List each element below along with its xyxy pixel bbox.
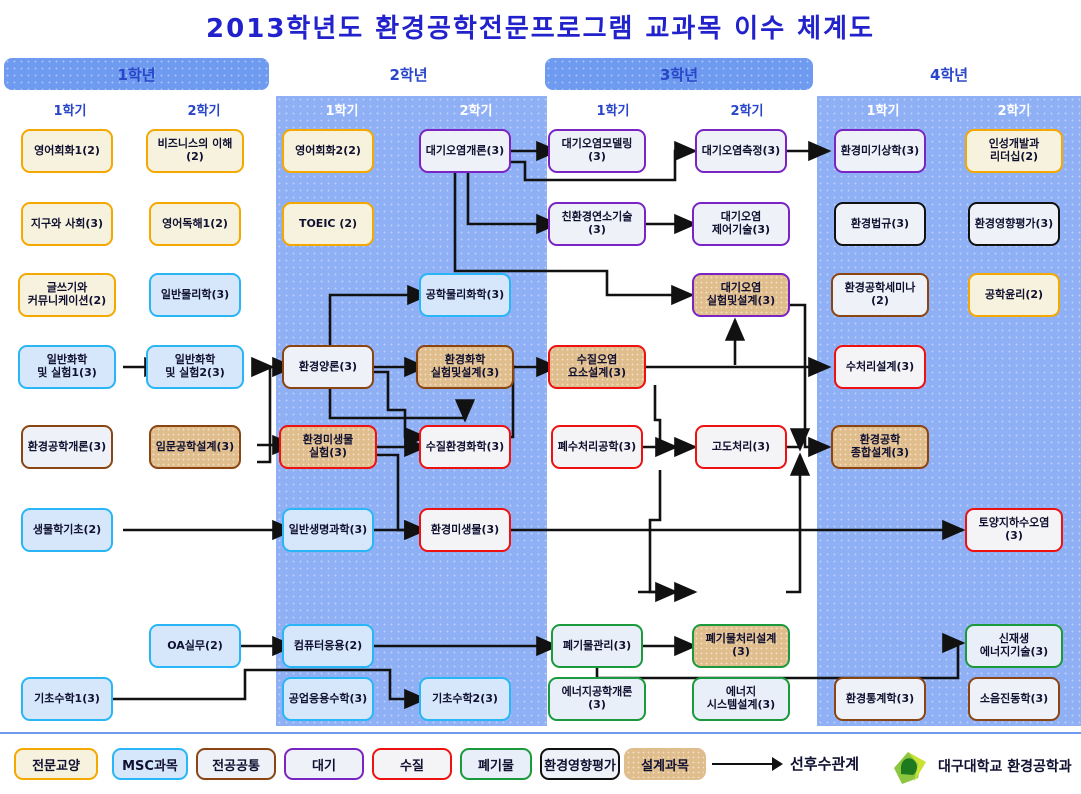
- course-box[interactable]: 영어독해1(2): [149, 202, 241, 246]
- course-label: 대기오염 제어기술(3): [712, 211, 770, 236]
- semester-header-4-1: 1학기: [817, 96, 949, 122]
- year-label: 2학년: [389, 64, 427, 85]
- legend-item[interactable]: 수질: [372, 748, 452, 780]
- course-label: 영어독해1(2): [162, 218, 228, 231]
- legend-item[interactable]: 전문교양: [14, 748, 98, 780]
- course-label: 영어회화2(2): [295, 145, 361, 158]
- course-box[interactable]: 폐기물처리설계 (3): [692, 624, 790, 668]
- legend-item-label: 수질: [400, 755, 424, 774]
- course-label: 환경영향평가(3): [975, 218, 1053, 231]
- course-label: 환경법규(3): [851, 218, 909, 231]
- course-box[interactable]: 기초수학2(3): [419, 677, 511, 721]
- course-label: OA실무(2): [167, 640, 223, 653]
- semester-header-3-1: 1학기: [547, 96, 679, 122]
- legend-item[interactable]: 전공공통: [196, 748, 276, 780]
- course-box[interactable]: 대기오염 제어기술(3): [692, 202, 790, 246]
- legend-item[interactable]: 환경영향평가: [540, 748, 620, 780]
- course-label: 임문공학설계(3): [156, 441, 234, 454]
- course-box[interactable]: 대기오염 실험및설계(3): [692, 273, 790, 317]
- course-box[interactable]: 수처리설계(3): [834, 345, 926, 389]
- course-label: 영어회화1(2): [34, 145, 100, 158]
- course-box[interactable]: 글쓰기와 커뮤니케이션(2): [18, 273, 116, 317]
- course-label: 환경미생물(3): [431, 524, 499, 537]
- course-label: 환경미생물 실험(3): [303, 434, 354, 459]
- legend-item[interactable]: 폐기물: [460, 748, 532, 780]
- course-box[interactable]: 인성개발과 리더십(2): [965, 129, 1063, 173]
- course-label: 대기오염 실험및설계(3): [707, 282, 775, 307]
- course-label: 환경통계학(3): [846, 693, 914, 706]
- course-box[interactable]: 일반화학 및 실험1(3): [18, 345, 116, 389]
- course-label: 신재생 에너지기술(3): [980, 633, 1048, 658]
- course-label: 수질환경화학(3): [426, 441, 504, 454]
- legend-item-label: 전문교양: [32, 755, 80, 774]
- course-box[interactable]: 영어회화1(2): [21, 129, 113, 173]
- course-box[interactable]: 환경미생물 실험(3): [279, 425, 377, 469]
- course-box[interactable]: 일반화학 및 실험2(3): [146, 345, 244, 389]
- course-label: 일반생명과학(3): [289, 524, 367, 537]
- course-label: 공업응용수학(3): [289, 693, 367, 706]
- year-label: 4학년: [930, 64, 968, 85]
- course-box[interactable]: 생물학기초(2): [21, 508, 113, 552]
- course-label: 환경양론(3): [299, 361, 357, 374]
- course-label: 지구와 사회(3): [31, 218, 103, 231]
- course-box[interactable]: 일반생명과학(3): [282, 508, 374, 552]
- course-label: 환경화학 실험및설계(3): [431, 354, 499, 379]
- year-label: 1학년: [117, 64, 155, 85]
- semester-header-1-1: 1학기: [4, 96, 136, 122]
- course-box[interactable]: 환경화학 실험및설계(3): [416, 345, 514, 389]
- course-box[interactable]: 대기오염모델링 (3): [548, 129, 646, 173]
- course-label: 폐수처리공학(3): [558, 441, 636, 454]
- course-box[interactable]: 수질환경화학(3): [419, 425, 511, 469]
- course-box[interactable]: 환경공학개론(3): [21, 425, 113, 469]
- course-box[interactable]: 대기오염개론(3): [419, 129, 511, 173]
- course-box[interactable]: 공업응용수학(3): [282, 677, 374, 721]
- legend-item[interactable]: MSC과목: [112, 748, 188, 780]
- course-label: 일반물리학(3): [161, 289, 229, 302]
- course-label: 토양지하수오염 (3): [979, 517, 1050, 542]
- course-box[interactable]: 소음진동학(3): [968, 677, 1060, 721]
- course-label: 에너지공학개론 (3): [562, 686, 633, 711]
- course-label: 고도처리(3): [712, 441, 770, 454]
- semester-label: 1학기: [597, 100, 630, 119]
- course-label: 폐기물관리(3): [563, 640, 631, 653]
- course-label: 환경공학세미나 (2): [845, 282, 916, 307]
- page-title: 2013학년도 환경공학전문프로그램 교과목 이수 체계도: [0, 8, 1081, 45]
- semester-label: 2학기: [188, 100, 221, 119]
- course-label: 대기오염측정(3): [702, 145, 780, 158]
- year-header-2: 2학년: [276, 58, 541, 90]
- course-box[interactable]: 에너지공학개론 (3): [548, 677, 646, 721]
- course-box[interactable]: 환경영향평가(3): [968, 202, 1060, 246]
- course-label: 글쓰기와 커뮤니케이션(2): [28, 282, 106, 307]
- course-label: 공학윤리(2): [985, 289, 1043, 302]
- course-label: 인성개발과 리더십(2): [989, 138, 1040, 163]
- course-box[interactable]: 대기오염측정(3): [695, 129, 787, 173]
- course-box[interactable]: 비즈니스의 이해 (2): [146, 129, 244, 173]
- course-label: 생물학기초(2): [33, 524, 101, 537]
- course-box[interactable]: 기초수학1(3): [21, 677, 113, 721]
- course-label: 컴퓨터응용(2): [294, 640, 362, 653]
- course-label: TOEIC (2): [299, 218, 357, 231]
- course-box[interactable]: 컴퓨터응용(2): [282, 624, 374, 668]
- course-label: 공학물리화학(3): [426, 289, 504, 302]
- legend-item-label: 대기: [312, 755, 336, 774]
- semester-header-1-2: 2학기: [138, 96, 270, 122]
- course-box[interactable]: 환경미생물(3): [419, 508, 511, 552]
- year-header-3: 3학년: [545, 58, 813, 90]
- legend-item-label: 전공공통: [212, 755, 260, 774]
- course-label: 기초수학1(3): [34, 693, 100, 706]
- course-box[interactable]: 지구와 사회(3): [21, 202, 113, 246]
- course-box[interactable]: TOEIC (2): [282, 202, 374, 246]
- semester-header-2-2: 2학기: [410, 96, 542, 122]
- legend-item-label: 폐기물: [478, 755, 514, 774]
- course-box[interactable]: 토양지하수오염 (3): [965, 508, 1063, 552]
- course-label: 소음진동학(3): [980, 693, 1048, 706]
- semester-label: 1학기: [867, 100, 900, 119]
- course-box[interactable]: 폐수처리공학(3): [551, 425, 643, 469]
- course-box[interactable]: 환경법규(3): [834, 202, 926, 246]
- semester-label: 1학기: [326, 100, 359, 119]
- semester-label: 2학기: [731, 100, 764, 119]
- year-label: 3학년: [660, 64, 698, 85]
- course-label: 대기오염개론(3): [426, 145, 504, 158]
- course-box[interactable]: 신재생 에너지기술(3): [965, 624, 1063, 668]
- legend-item-label: 설계과목: [641, 755, 689, 774]
- course-box[interactable]: 공학윤리(2): [968, 273, 1060, 317]
- course-box[interactable]: 영어회화2(2): [282, 129, 374, 173]
- course-box[interactable]: 폐기물관리(3): [551, 624, 643, 668]
- course-label: 기초수학2(3): [432, 693, 498, 706]
- course-label: 환경공학개론(3): [28, 441, 106, 454]
- course-label: 친환경연소기술 (3): [562, 211, 633, 236]
- course-box[interactable]: 수질오염 요소설계(3): [548, 345, 646, 389]
- curriculum-flowchart: 2013학년도 환경공학전문프로그램 교과목 이수 체계도 1학년 2학년 3학…: [0, 0, 1081, 794]
- legend-arrow-line: [712, 763, 774, 765]
- legend-item-label: 환경영향평가: [544, 755, 616, 774]
- course-box[interactable]: 일반물리학(3): [149, 273, 241, 317]
- legend-arrow-head-icon: [772, 757, 783, 771]
- course-label: 환경공학 종합설계(3): [851, 434, 909, 459]
- legend-arrow-label: 선후수관계: [790, 753, 859, 774]
- year-header-1: 1학년: [4, 58, 269, 90]
- university-logo-icon: [888, 748, 932, 788]
- course-label: 수질오염 요소설계(3): [568, 354, 626, 379]
- course-box[interactable]: OA실무(2): [149, 624, 241, 668]
- course-label: 환경미기상학(3): [841, 145, 919, 158]
- course-box[interactable]: 환경공학 종합설계(3): [831, 425, 929, 469]
- course-label: 일반화학 및 실험1(3): [37, 354, 97, 379]
- course-box[interactable]: 환경미기상학(3): [834, 129, 926, 173]
- semester-header-4-2: 2학기: [949, 96, 1079, 122]
- course-box[interactable]: 에너지 시스템설계(3): [692, 677, 790, 721]
- course-box[interactable]: 환경공학세미나 (2): [831, 273, 929, 317]
- course-box[interactable]: 환경양론(3): [282, 345, 374, 389]
- year-header-4: 4학년: [817, 58, 1081, 90]
- semester-label: 2학기: [998, 100, 1031, 119]
- course-label: 일반화학 및 실험2(3): [165, 354, 225, 379]
- course-label: 에너지 시스템설계(3): [707, 686, 775, 711]
- course-box[interactable]: 고도처리(3): [695, 425, 787, 469]
- university-label: 대구대학교 환경공학과: [938, 756, 1072, 776]
- course-box[interactable]: 환경통계학(3): [834, 677, 926, 721]
- legend-item-label: MSC과목: [122, 755, 178, 774]
- course-box[interactable]: 친환경연소기술 (3): [548, 202, 646, 246]
- course-label: 폐기물처리설계 (3): [706, 633, 777, 658]
- course-label: 수처리설계(3): [846, 361, 914, 374]
- course-label: 비즈니스의 이해 (2): [158, 138, 233, 163]
- course-label: 대기오염모델링 (3): [562, 138, 633, 163]
- course-box[interactable]: 공학물리화학(3): [419, 273, 511, 317]
- course-box[interactable]: 임문공학설계(3): [149, 425, 241, 469]
- semester-label: 2학기: [460, 100, 493, 119]
- semester-header-2-1: 1학기: [276, 96, 408, 122]
- legend-item[interactable]: 대기: [284, 748, 364, 780]
- semester-label: 1학기: [54, 100, 87, 119]
- semester-header-3-2: 2학기: [681, 96, 813, 122]
- legend-item[interactable]: 설계과목: [624, 748, 706, 780]
